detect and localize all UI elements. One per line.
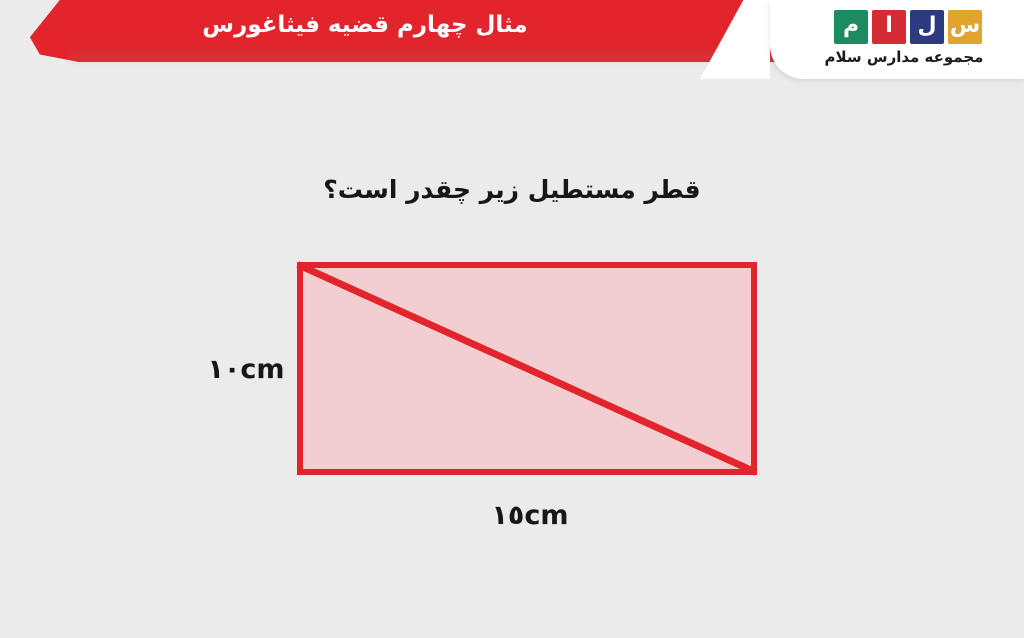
logo-square-alef: ا bbox=[872, 10, 906, 44]
diagonal-line-icon bbox=[297, 262, 757, 475]
logo-caption: مجموعه مدارس سلام bbox=[824, 48, 984, 66]
width-label: ١٥cm bbox=[0, 500, 1024, 531]
page-title: مثال چهارم قضیه فیثاغورس bbox=[0, 12, 790, 38]
height-label: ١٠cm bbox=[196, 354, 296, 385]
logo-panel[interactable]: س ل ا م مجموعه مدارس سلام bbox=[770, 0, 1024, 79]
logo-square-lam: ل bbox=[910, 10, 944, 44]
page-header: مثال چهارم قضیه فیثاغورس س ل ا م مجموعه … bbox=[0, 0, 1024, 82]
logo-square-seen: س bbox=[948, 10, 982, 44]
logo-squares: س ل ا م bbox=[834, 10, 982, 44]
question-text: قطر مستطیل زیر چقدر است؟ bbox=[0, 175, 1024, 204]
logo-square-meem: م bbox=[834, 10, 868, 44]
rectangle-diagram bbox=[297, 262, 757, 475]
